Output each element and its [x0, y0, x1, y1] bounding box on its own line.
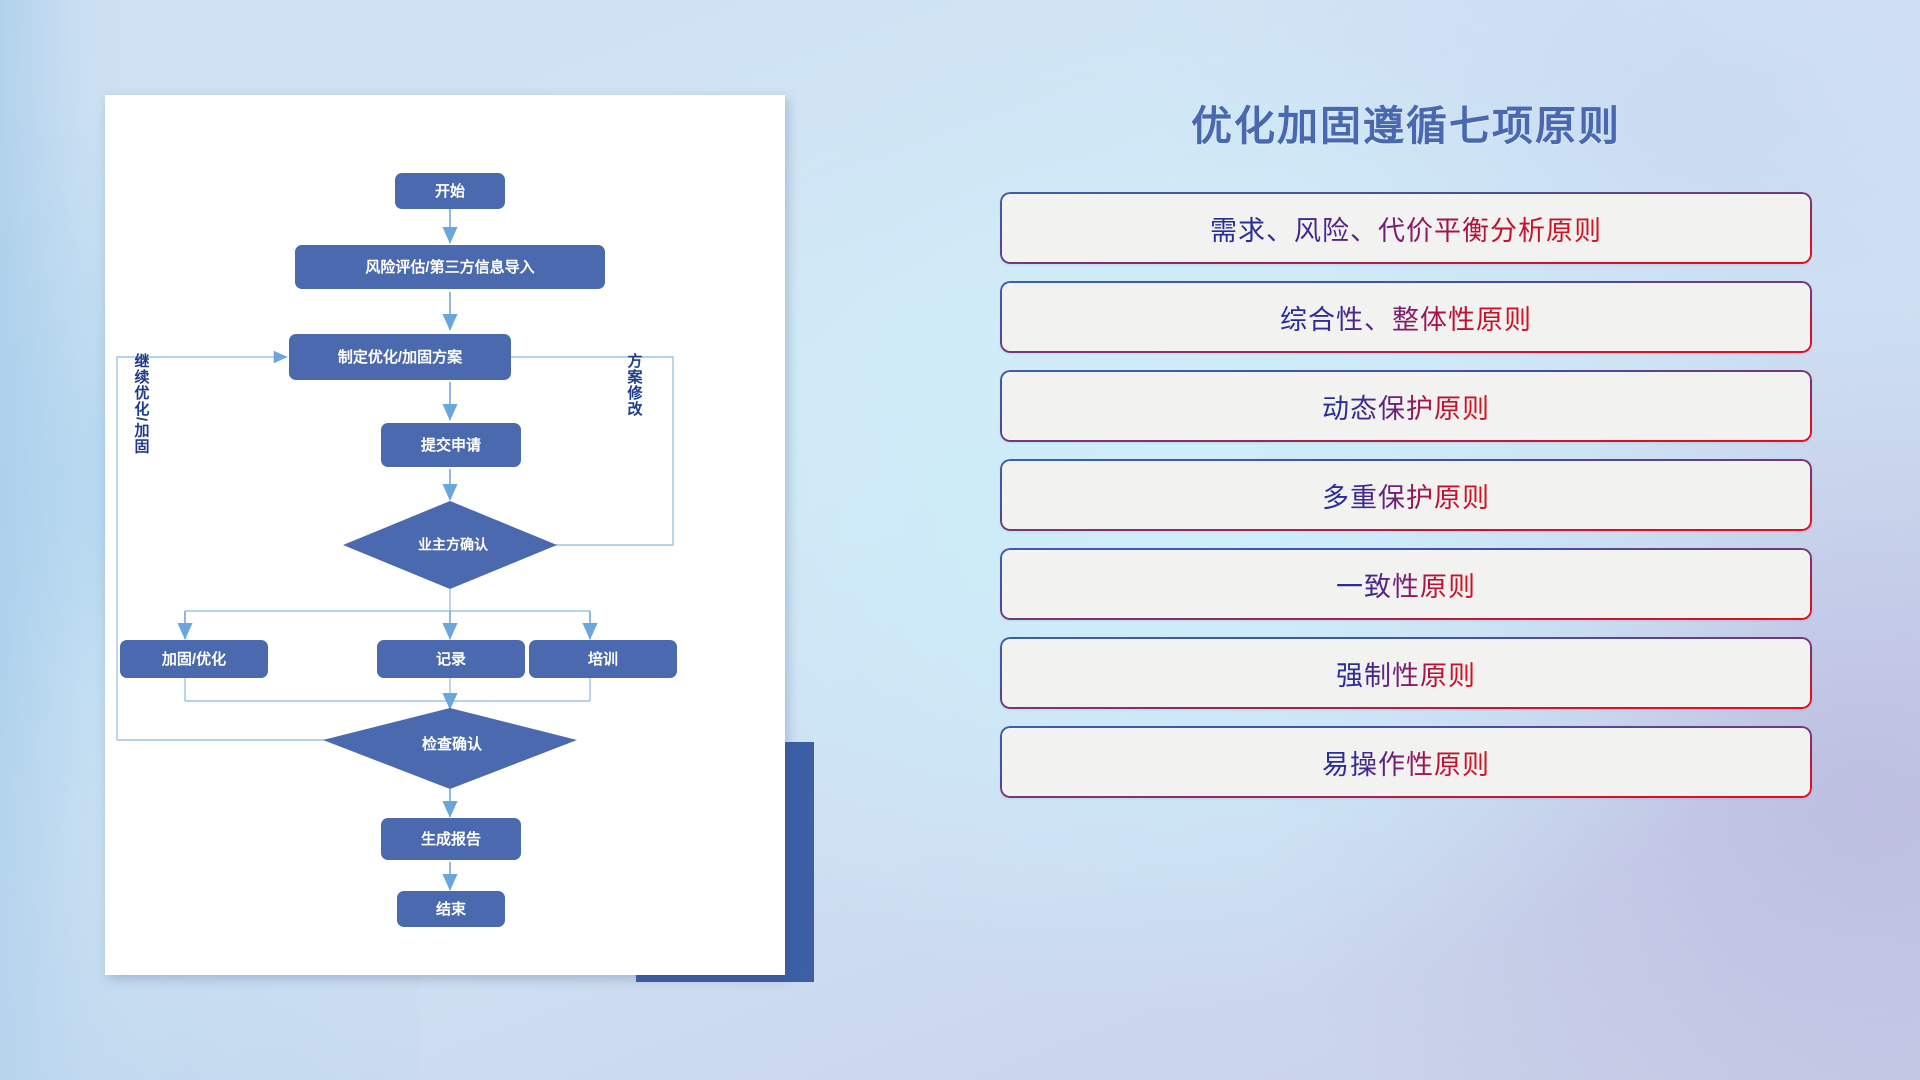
flow-node-check[interactable]: 检查确认	[323, 708, 577, 789]
flow-node-reinforce[interactable]: 加固/优化	[120, 640, 268, 678]
flow-node-reinforce-label: 加固/优化	[161, 650, 226, 668]
principle-label-5: 一致性原则	[1336, 565, 1476, 604]
principle-card-7[interactable]: 易操作性原则	[1000, 726, 1812, 798]
flow-node-end[interactable]: 结束	[397, 891, 505, 927]
flow-node-owner-confirm[interactable]: 业主方确认	[343, 501, 557, 589]
flow-node-risk[interactable]: 风险评估/第三方信息导入	[295, 245, 605, 289]
panel-title: 优化加固遵循七项原则	[1000, 92, 1812, 152]
principle-label-6: 强制性原则	[1336, 654, 1476, 693]
flow-node-submit[interactable]: 提交申请	[381, 423, 521, 467]
principle-list: 需求、风险、代价平衡分析原则 综合性、整体性原则 动态保护原则 多重保护原则 一…	[1000, 192, 1812, 798]
flow-node-report[interactable]: 生成报告	[381, 818, 521, 860]
flow-node-record[interactable]: 记录	[377, 640, 525, 678]
flow-node-record-label: 记录	[436, 651, 466, 668]
connector-check-continue-loop	[117, 357, 355, 740]
principle-label-1: 需求、风险、代价平衡分析原则	[1210, 209, 1602, 248]
flowchart-diagram: 继续优化/加固 方案修改 开始 风险评估/第三方信息导入 制定优化/加固方案 提…	[105, 95, 785, 975]
principle-label-7: 易操作性原则	[1322, 743, 1490, 782]
flow-node-submit-label: 提交申请	[421, 436, 481, 454]
principle-card-3[interactable]: 动态保护原则	[1000, 370, 1812, 442]
flow-node-plan-label: 制定优化/加固方案	[338, 348, 463, 366]
flow-node-risk-label: 风险评估/第三方信息导入	[365, 258, 534, 276]
flow-node-training-label: 培训	[588, 650, 618, 668]
flow-node-report-label: 生成报告	[421, 830, 481, 848]
principle-label-3: 动态保护原则	[1322, 387, 1490, 426]
principle-card-1[interactable]: 需求、风险、代价平衡分析原则	[1000, 192, 1812, 264]
flow-node-training[interactable]: 培训	[529, 640, 677, 678]
flow-node-plan[interactable]: 制定优化/加固方案	[289, 334, 511, 380]
flow-side-label-left: 继续优化/加固	[133, 352, 151, 454]
slide-canvas: 继续优化/加固 方案修改 开始 风险评估/第三方信息导入 制定优化/加固方案 提…	[0, 0, 1920, 1080]
flow-node-owner-confirm-label: 业主方确认	[418, 537, 489, 553]
flowchart-card: 继续优化/加固 方案修改 开始 风险评估/第三方信息导入 制定优化/加固方案 提…	[105, 95, 785, 975]
flow-node-start[interactable]: 开始	[395, 173, 505, 209]
principle-card-2[interactable]: 综合性、整体性原则	[1000, 281, 1812, 353]
principle-label-2: 综合性、整体性原则	[1280, 298, 1532, 337]
flow-node-check-label: 检查确认	[422, 735, 483, 753]
principle-card-4[interactable]: 多重保护原则	[1000, 459, 1812, 531]
principle-card-5[interactable]: 一致性原则	[1000, 548, 1812, 620]
flow-side-label-right: 方案修改	[626, 352, 644, 417]
flow-node-end-label: 结束	[436, 900, 467, 918]
principle-label-4: 多重保护原则	[1322, 476, 1490, 515]
flow-node-start-label: 开始	[435, 182, 465, 200]
principles-panel: 优化加固遵循七项原则 需求、风险、代价平衡分析原则 综合性、整体性原则 动态保护…	[1000, 92, 1812, 1012]
principle-card-6[interactable]: 强制性原则	[1000, 637, 1812, 709]
